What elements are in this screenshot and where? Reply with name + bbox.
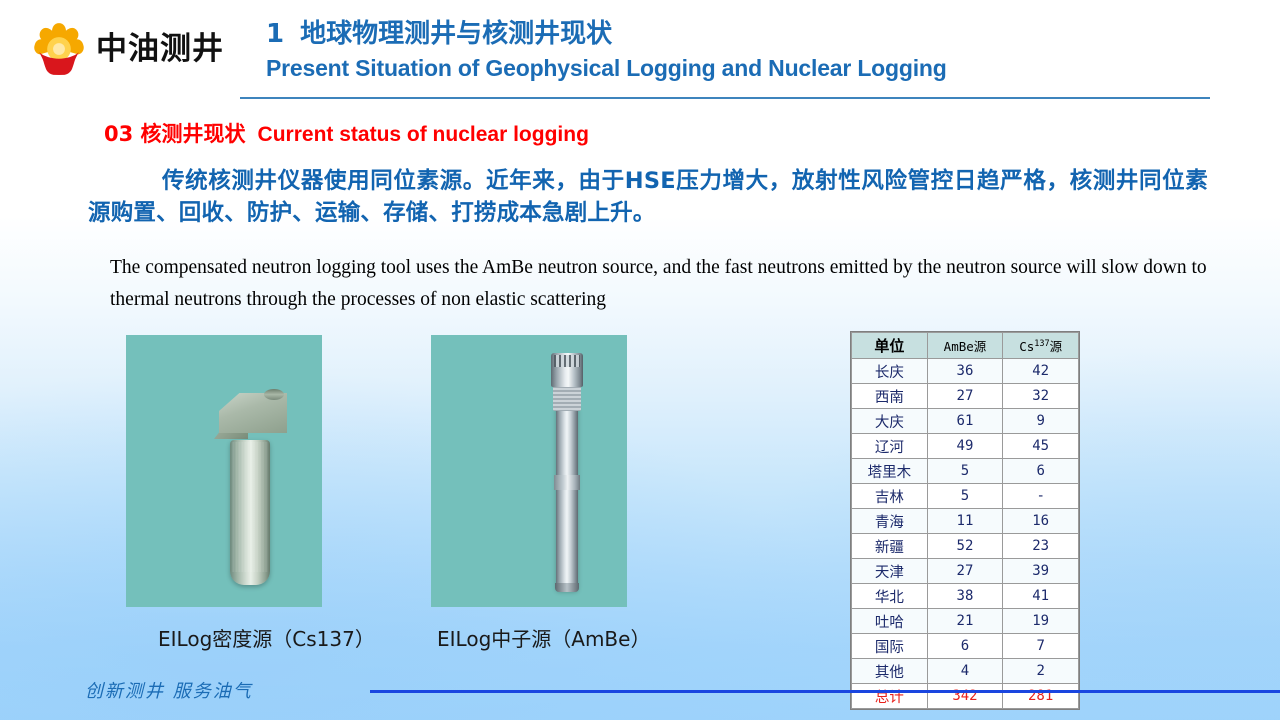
table-header-cs: Cs137源 <box>1003 333 1079 359</box>
neutron-source-photo <box>431 335 627 607</box>
cell-cs: 6 <box>1003 459 1079 484</box>
cell-cs: 2 <box>1003 659 1079 684</box>
cell-ambe: 52 <box>927 534 1003 559</box>
cell-cs: 23 <box>1003 534 1079 559</box>
cell-ambe: 21 <box>927 609 1003 634</box>
table-row: 辽河 49 45 <box>852 434 1079 459</box>
table-row: 大庆 61 9 <box>852 409 1079 434</box>
section-heading: 03 核测井现状Current status of nuclear loggin… <box>104 118 589 148</box>
chinese-paragraph: 传统核测井仪器使用同位素源。近年来，由于HSE压力增大，放射性风险管控日趋严格，… <box>88 166 1208 230</box>
section-number: 1 <box>266 19 284 49</box>
table-row: 长庆 36 42 <box>852 359 1079 384</box>
brand-logo: 中油测井 <box>32 18 244 80</box>
slide-title: 1地球物理测井与核测井现状 Present Situation of Geoph… <box>266 20 1226 82</box>
table-row: 其他 4 2 <box>852 659 1079 684</box>
neutron-source-tip <box>555 583 579 592</box>
source-inventory-table: 单位 AmBe源 Cs137源 长庆 36 42 西南 27 32 大庆 <box>851 332 1079 709</box>
brand-name: 中油测井 <box>96 34 224 65</box>
cell-ambe: 36 <box>927 359 1003 384</box>
cell-total-label: 总计 <box>852 684 928 709</box>
density-source-body <box>230 440 270 585</box>
table-total-row: 总计 342 281 <box>852 684 1079 709</box>
cell-ambe: 4 <box>927 659 1003 684</box>
title-cn-text: 地球物理测井与核测井现状 <box>300 19 612 49</box>
title-cn-line: 1地球物理测井与核测井现状 <box>266 20 1226 50</box>
cnpc-sunflower-icon <box>32 21 86 77</box>
table-row: 华北 38 41 <box>852 584 1079 609</box>
cell-cs: 32 <box>1003 384 1079 409</box>
cell-cs: 7 <box>1003 634 1079 659</box>
cell-ambe: 38 <box>927 584 1003 609</box>
cell-ambe: 27 <box>927 384 1003 409</box>
cell-cs: 16 <box>1003 509 1079 534</box>
footer-divider <box>370 690 1280 693</box>
neutron-source-head <box>551 353 583 387</box>
header-divider <box>240 97 1210 99</box>
cs-suffix: 源 <box>1050 339 1063 354</box>
neutron-source-collar <box>554 475 580 490</box>
cs-superscript: 137 <box>1034 339 1049 349</box>
cell-unit: 辽河 <box>852 434 928 459</box>
table-body: 长庆 36 42 西南 27 32 大庆 61 9 辽河 49 45 <box>852 359 1079 709</box>
table-row: 天津 27 39 <box>852 559 1079 584</box>
cell-cs: 45 <box>1003 434 1079 459</box>
cell-unit: 新疆 <box>852 534 928 559</box>
table-row: 吐哈 21 19 <box>852 609 1079 634</box>
cell-cs: 19 <box>1003 609 1079 634</box>
figure-caption-density: EILog密度源（Cs137） <box>158 623 375 652</box>
cell-cs: 9 <box>1003 409 1079 434</box>
cell-total-cs: 281 <box>1003 684 1079 709</box>
table-row: 西南 27 32 <box>852 384 1079 409</box>
section-heading-en: Current status of nuclear logging <box>258 123 589 146</box>
cell-cs: 42 <box>1003 359 1079 384</box>
density-source-photo <box>126 335 322 607</box>
cell-ambe: 5 <box>927 484 1003 509</box>
cell-cs: - <box>1003 484 1079 509</box>
cell-unit: 其他 <box>852 659 928 684</box>
table-header-unit: 单位 <box>852 333 928 359</box>
table-row: 国际 6 7 <box>852 634 1079 659</box>
english-paragraph: The compensated neutron logging tool use… <box>110 252 1208 315</box>
cell-unit: 国际 <box>852 634 928 659</box>
cell-unit: 天津 <box>852 559 928 584</box>
cell-unit: 西南 <box>852 384 928 409</box>
table-row: 青海 11 16 <box>852 509 1079 534</box>
slide-root: 中油测井 1地球物理测井与核测井现状 Present Situation of … <box>0 0 1280 720</box>
cell-ambe: 6 <box>927 634 1003 659</box>
cell-unit: 青海 <box>852 509 928 534</box>
figure-caption-neutron: EILog中子源（AmBe） <box>437 623 650 652</box>
cell-ambe: 49 <box>927 434 1003 459</box>
table-row: 塔里木 5 6 <box>852 459 1079 484</box>
cell-ambe: 27 <box>927 559 1003 584</box>
density-source-cap <box>264 389 284 400</box>
cell-total-ambe: 342 <box>927 684 1003 709</box>
cell-ambe: 11 <box>927 509 1003 534</box>
cell-unit: 长庆 <box>852 359 928 384</box>
cell-unit: 华北 <box>852 584 928 609</box>
section-heading-cn: 03 核测井现状 <box>104 122 246 146</box>
cell-cs: 39 <box>1003 559 1079 584</box>
table-header-row: 单位 AmBe源 Cs137源 <box>852 333 1079 359</box>
cell-unit: 大庆 <box>852 409 928 434</box>
footer-slogan: 创新测井 服务油气 <box>85 677 253 703</box>
cell-unit: 吉林 <box>852 484 928 509</box>
title-en-text: Present Situation of Geophysical Logging… <box>266 55 1226 83</box>
cell-unit: 塔里木 <box>852 459 928 484</box>
table-row: 新疆 52 23 <box>852 534 1079 559</box>
neutron-source-rod <box>556 405 578 590</box>
neutron-source-thread <box>553 383 581 411</box>
cell-ambe: 5 <box>927 459 1003 484</box>
cs-base: Cs <box>1019 339 1034 354</box>
table-header-ambe: AmBe源 <box>927 333 1003 359</box>
cell-cs: 41 <box>1003 584 1079 609</box>
cell-ambe: 61 <box>927 409 1003 434</box>
table-row: 吉林 5 - <box>852 484 1079 509</box>
cell-unit: 吐哈 <box>852 609 928 634</box>
